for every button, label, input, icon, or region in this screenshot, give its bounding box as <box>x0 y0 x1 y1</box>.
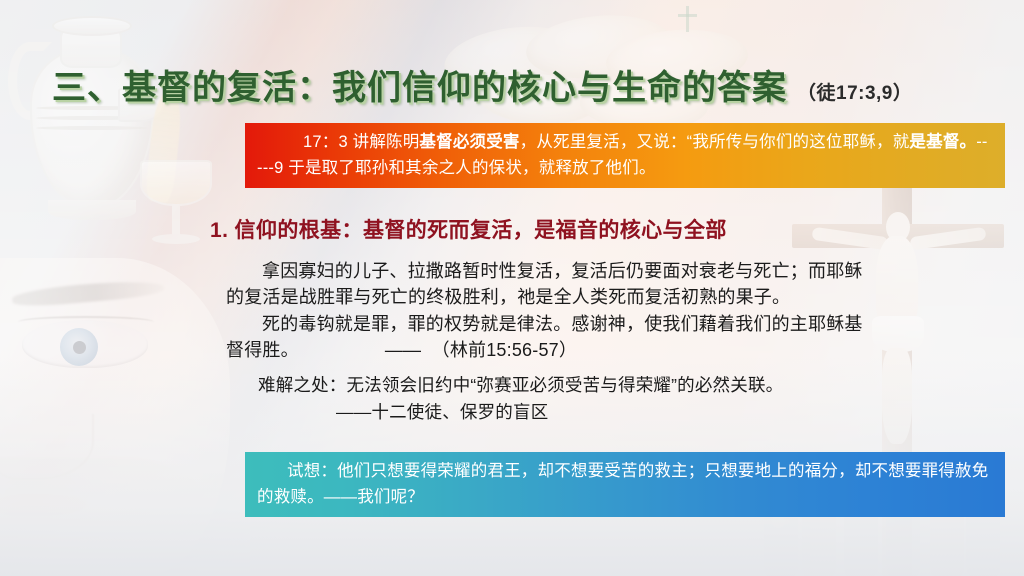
scripture-line2-bold-a: 是基督。 <box>909 133 976 151</box>
scripture-line1-plain-b: ，从死里复活，又说：“我所传与你们的这位耶稣，就 <box>520 133 910 151</box>
body-para2-line1: 死的毒钩就是罪，罪的权势就是律法。感谢神，使我们藉着我们的主耶稣基 <box>226 311 926 337</box>
body2-line2: ——十二使徒、保罗的盲区 <box>258 399 948 426</box>
scripture-line1-plain-a: 17：3 讲解陈明 <box>303 133 419 151</box>
reflection-banner: 试想：他们只想要得荣耀的君王，却不想要受苦的救主；只想要地上的福分，却不想要罪得… <box>245 452 1005 517</box>
body-paragraphs-secondary: 难解之处：无法领会旧约中“弥赛亚必须受苦与得荣耀”的必然关联。 ——十二使徒、保… <box>258 372 948 425</box>
page-title: 三、基督的复活：我们信仰的核心与生命的答案 <box>52 60 787 109</box>
presentation-slide: 三、基督的复活：我们信仰的核心与生命的答案 （徒17:3,9） 17：3 讲解陈… <box>0 0 1024 576</box>
title-scripture-reference: （徒17:3,9） <box>797 78 912 105</box>
body-paragraphs: 拿因寡妇的儿子、拉撒路暂时性复活，复活后仍要面对衰老与死亡；而耶稣 的复活是战胜… <box>226 258 926 363</box>
slide-title-row: 三、基督的复活：我们信仰的核心与生命的答案 （徒17:3,9） <box>52 60 912 109</box>
body2-line1: 难解之处：无法领会旧约中“弥赛亚必须受苦与得荣耀”的必然关联。 <box>258 372 948 399</box>
body-para2-citation: —— （林前15:56-57） <box>299 340 577 360</box>
body-para1-line2: 的复活是战胜罪与死亡的终极胜利，祂是全人类死而复活初熟的果子。 <box>226 284 926 310</box>
body-para2-line2-head: 督得胜。 <box>226 340 299 360</box>
reflection-line1: 试想：他们只想要得荣耀的君王，却不想要受苦的救主；只想要地上的福分， <box>287 462 855 480</box>
section-heading: 1. 信仰的根基：基督的死而复活，是福音的核心与全部 <box>210 214 727 244</box>
slide-content: 三、基督的复活：我们信仰的核心与生命的答案 （徒17:3,9） 17：3 讲解陈… <box>0 0 1024 576</box>
scripture-line1-bold-a: 基督必须受害 <box>419 133 519 151</box>
body-para1-line1: 拿因寡妇的儿子、拉撒路暂时性复活，复活后仍要面对衰老与死亡；而耶稣 <box>226 258 926 284</box>
scripture-banner: 17：3 讲解陈明基督必须受害，从死里复活，又说：“我所传与你们的这位耶稣，就是… <box>245 123 1005 188</box>
body-para2-line2: 督得胜。—— （林前15:56-57） <box>226 337 926 363</box>
